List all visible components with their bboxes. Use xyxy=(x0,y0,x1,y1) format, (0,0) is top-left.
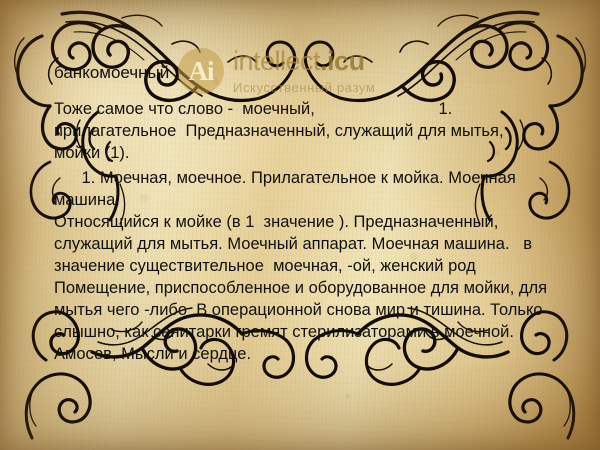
definition-paragraph: 1. Моечная, моечное. Прилагательное к мо… xyxy=(54,168,554,212)
definition-paragraph: Тоже самое что слово - моечный, 1. прила… xyxy=(54,99,554,165)
headword-title: банкомоечный xyxy=(54,62,554,83)
definition-paragraph: Относящийся к мойке (в 1 значение ). Пре… xyxy=(54,212,554,366)
slide-canvas: Ai intellect.icu Искусственный разум бан… xyxy=(0,0,600,450)
definition-content: банкомоечный Тоже самое что слово - моеч… xyxy=(54,62,554,366)
